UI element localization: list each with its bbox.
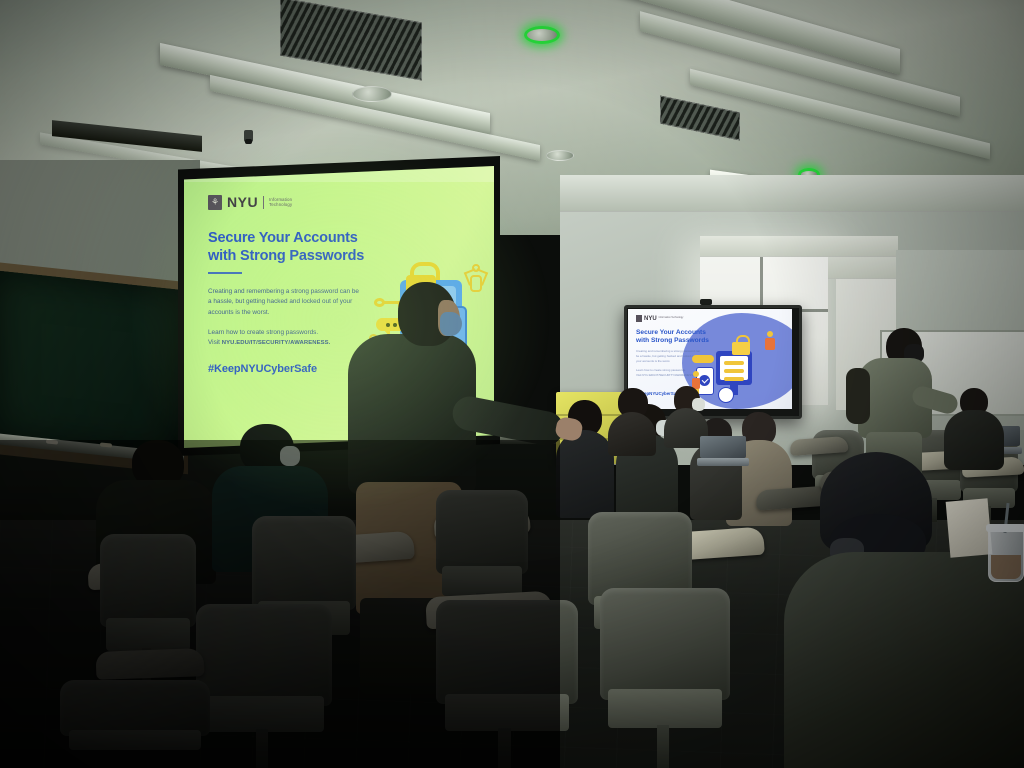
slide-title: Secure Your Accounts with Strong Passwor… (208, 230, 388, 265)
classroom-chair (436, 600, 578, 768)
smoke-detector-icon (352, 86, 392, 102)
monitor-illus-person-right-icon (764, 331, 776, 355)
nyu-logo: ⚘ NYU Information Technology (208, 194, 473, 210)
slide-title-line1: Secure Your Accounts (208, 230, 388, 248)
backpack (846, 368, 870, 424)
slide-title-line2: with Strong Passwords (208, 248, 388, 266)
smoke-detector-icon (524, 26, 560, 44)
monitor-illus-globe-icon (718, 387, 734, 403)
logo-subtitle-line2: Technology (269, 202, 292, 207)
classroom-chair (600, 588, 730, 768)
chalkboard (0, 270, 180, 458)
slide-cta-visit-prefix: Visit (208, 339, 222, 346)
classroom-chair (60, 680, 210, 768)
monitor-illus-password-bar (724, 361, 744, 365)
foreground-student (784, 452, 1024, 768)
tablet-arm-desk (96, 648, 205, 680)
monitor-illus-password-bar (724, 377, 744, 381)
monitor-torch-icon (636, 315, 642, 322)
wall-soffit (560, 175, 1024, 212)
coffee-cup (988, 528, 1024, 582)
monitor-nyu-logo: NYU Information Technology (636, 315, 683, 322)
classroom-chair (196, 604, 332, 768)
slide-cta-lead: Learn how to create strong passwords. (208, 329, 318, 336)
smoke-detector-icon (546, 150, 574, 161)
logo-divider (263, 196, 264, 209)
monitor-illus-password-bar (724, 369, 744, 373)
nyu-wordmark: NYU (227, 194, 258, 210)
classroom-photo-scene: ⚘ NYU Information Technology Secure Your… (0, 0, 1024, 768)
cup-liquid (991, 555, 1021, 579)
cup-lid (986, 524, 1024, 532)
window-blind-valance (700, 236, 898, 257)
seated-student (664, 386, 708, 442)
slide-cta-url: NYU.EDU/IT/SECURITY/AWARENESS. (222, 340, 331, 346)
monitor-illus-coins-icon (692, 355, 714, 363)
slide-title-rule (208, 272, 242, 274)
monitor-illus-padlock-icon (732, 335, 750, 355)
monitor-logo-subtitle: Information Technology (659, 317, 684, 320)
nyu-logo-subtitle: Information Technology (269, 197, 292, 208)
nyu-torch-icon: ⚘ (208, 195, 222, 210)
foreground-student-torso (784, 552, 1024, 768)
monitor-wordmark: NYU (644, 316, 657, 322)
torch-glyph: ⚘ (211, 198, 219, 207)
laptop (700, 436, 746, 466)
face-mask-icon (440, 312, 462, 336)
security-camera-icon (244, 130, 253, 142)
seated-student (608, 388, 656, 450)
